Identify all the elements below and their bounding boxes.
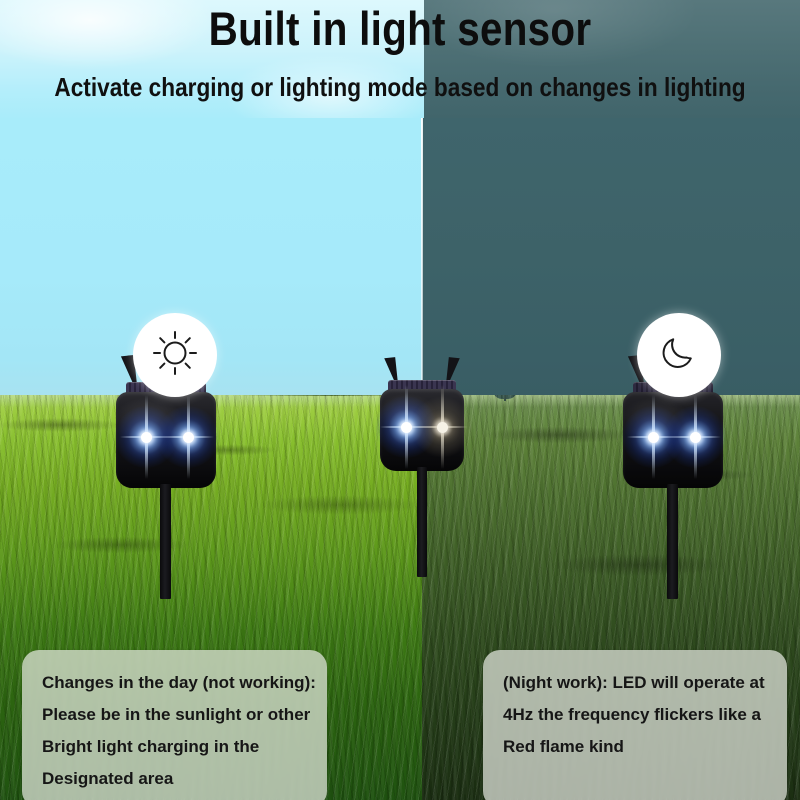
- led-eye-right: [187, 436, 189, 438]
- led-core: [690, 432, 701, 443]
- caption-night: (Night work): LED will operate at 4Hz th…: [483, 650, 787, 800]
- device-middle[interactable]: [374, 358, 470, 548]
- caption-line: (Night work): LED will operate at: [503, 670, 767, 696]
- page-subtitle: Activate charging or lighting mode based…: [52, 72, 748, 102]
- led-core: [648, 432, 659, 443]
- led-eye-left: [405, 426, 407, 428]
- day-mode-badge[interactable]: [133, 313, 217, 397]
- led-core: [401, 422, 412, 433]
- sun-icon: [152, 330, 198, 381]
- caption-line: Changes in the day (not working):: [42, 670, 307, 696]
- led-core: [183, 432, 194, 443]
- ground-stake: [417, 467, 427, 577]
- led-eye-right: [694, 436, 696, 438]
- led-eye-left: [652, 436, 654, 438]
- caption-day: Changes in the day (not working): Please…: [22, 650, 327, 800]
- moon-icon: [656, 330, 702, 381]
- caption-line: 4Hz the frequency flickers like a: [503, 702, 767, 728]
- led-eye-left: [145, 436, 147, 438]
- sky-night-half: [422, 118, 800, 398]
- caption-line: Designated area: [42, 766, 307, 792]
- led-core: [437, 422, 448, 433]
- led-eye-right: [441, 426, 443, 428]
- led-core: [141, 432, 152, 443]
- caption-line: Red flame kind: [503, 734, 767, 760]
- ground-stake: [160, 484, 171, 599]
- page-title: Built in light sensor: [56, 2, 744, 56]
- night-mode-badge[interactable]: [637, 313, 721, 397]
- caption-line: Bright light charging in the: [42, 734, 307, 760]
- ground-stake: [667, 484, 678, 599]
- scene: Changes in the day (not working): Please…: [0, 118, 800, 800]
- caption-line: Please be in the sunlight or other: [42, 702, 307, 728]
- device-body: [374, 358, 470, 548]
- day-night-divider: [421, 118, 423, 398]
- product-feature-image: Built in light sensor Activate charging …: [0, 0, 800, 800]
- header-band: Built in light sensor Activate charging …: [0, 0, 800, 118]
